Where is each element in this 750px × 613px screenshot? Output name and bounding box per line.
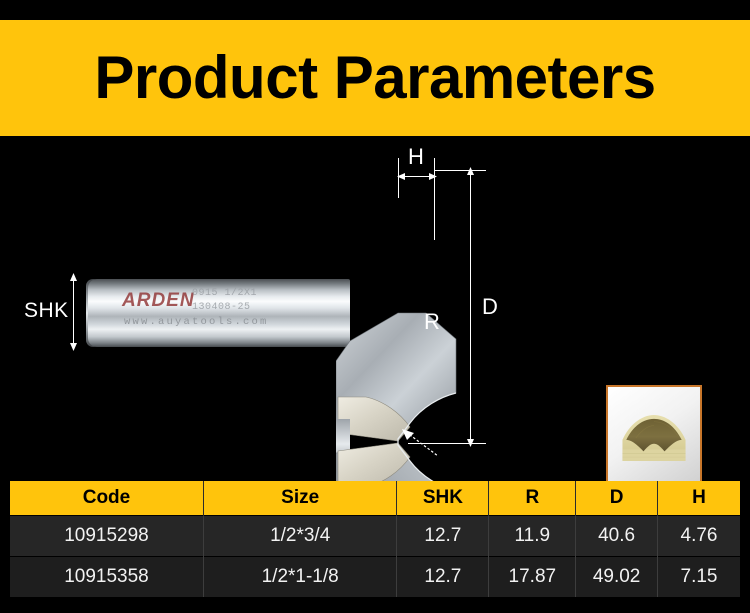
cell-r: 17.87 (489, 556, 576, 597)
column-header-shk: SHK (397, 481, 489, 515)
table-row: 10915298 1/2*3/4 12.7 11.9 40.6 4.76 (10, 515, 740, 556)
column-header-d: D (576, 481, 658, 515)
d-label: D (482, 294, 498, 320)
shk-label: SHK (24, 299, 69, 323)
shank-website-text: www.auyatools.com (124, 316, 269, 328)
cell-d: 40.6 (576, 515, 658, 556)
header-banner: Product Parameters (0, 20, 750, 136)
cell-shk: 12.7 (397, 515, 489, 556)
product-diagram: SHK ARDEN 0915 1/2X1 130408-25 www.auyat… (0, 136, 750, 476)
parameters-table: Code Size SHK R D H 10915298 1/2*3/4 12.… (10, 481, 740, 597)
cut-profile-sample (606, 385, 702, 489)
brand-logo: ARDEN (122, 290, 195, 312)
product-parameters-page: Product Parameters SHK ARDEN 0915 1/2X1 … (0, 0, 750, 613)
cell-code: 10915298 (10, 515, 203, 556)
column-header-code: Code (10, 481, 203, 515)
shk-arrow-heads (68, 272, 79, 352)
d-extension-line-top (434, 170, 486, 171)
column-header-size: Size (203, 481, 396, 515)
column-header-h: H (657, 481, 740, 515)
cell-code: 10915358 (10, 556, 203, 597)
r-leader-arrow (398, 424, 458, 464)
profile-illustration (611, 390, 697, 484)
shank-code-line-2: 130408-25 (192, 302, 251, 313)
table-header-row: Code Size SHK R D H (10, 481, 740, 515)
cell-size: 1/2*3/4 (203, 515, 396, 556)
r-label: R (424, 309, 440, 335)
h-label: H (408, 144, 424, 170)
column-header-r: R (489, 481, 576, 515)
cell-h: 7.15 (657, 556, 740, 597)
cell-h: 4.76 (657, 515, 740, 556)
table-row: 10915358 1/2*1-1/8 12.7 17.87 49.02 7.15 (10, 556, 740, 597)
parameters-table-wrapper: Code Size SHK R D H 10915298 1/2*3/4 12.… (10, 481, 740, 597)
cell-size: 1/2*1-1/8 (203, 556, 396, 597)
h-arrow-heads (396, 171, 438, 182)
page-title: Product Parameters (94, 48, 655, 108)
cell-shk: 12.7 (397, 556, 489, 597)
cell-r: 11.9 (489, 515, 576, 556)
d-arrow-heads (465, 166, 476, 448)
shank-code-line-1: 0915 1/2X1 (192, 288, 257, 299)
cell-d: 49.02 (576, 556, 658, 597)
